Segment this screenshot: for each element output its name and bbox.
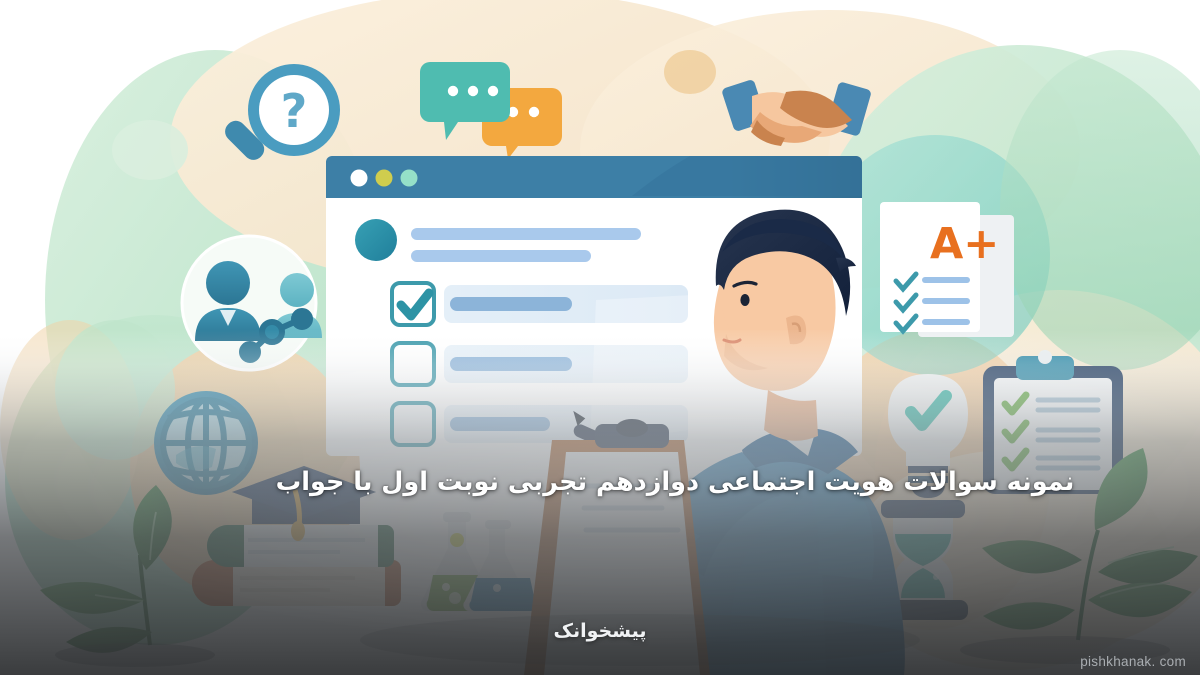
hero-banner: ?: [0, 0, 1200, 675]
bottom-dark-gradient: [0, 0, 1200, 675]
